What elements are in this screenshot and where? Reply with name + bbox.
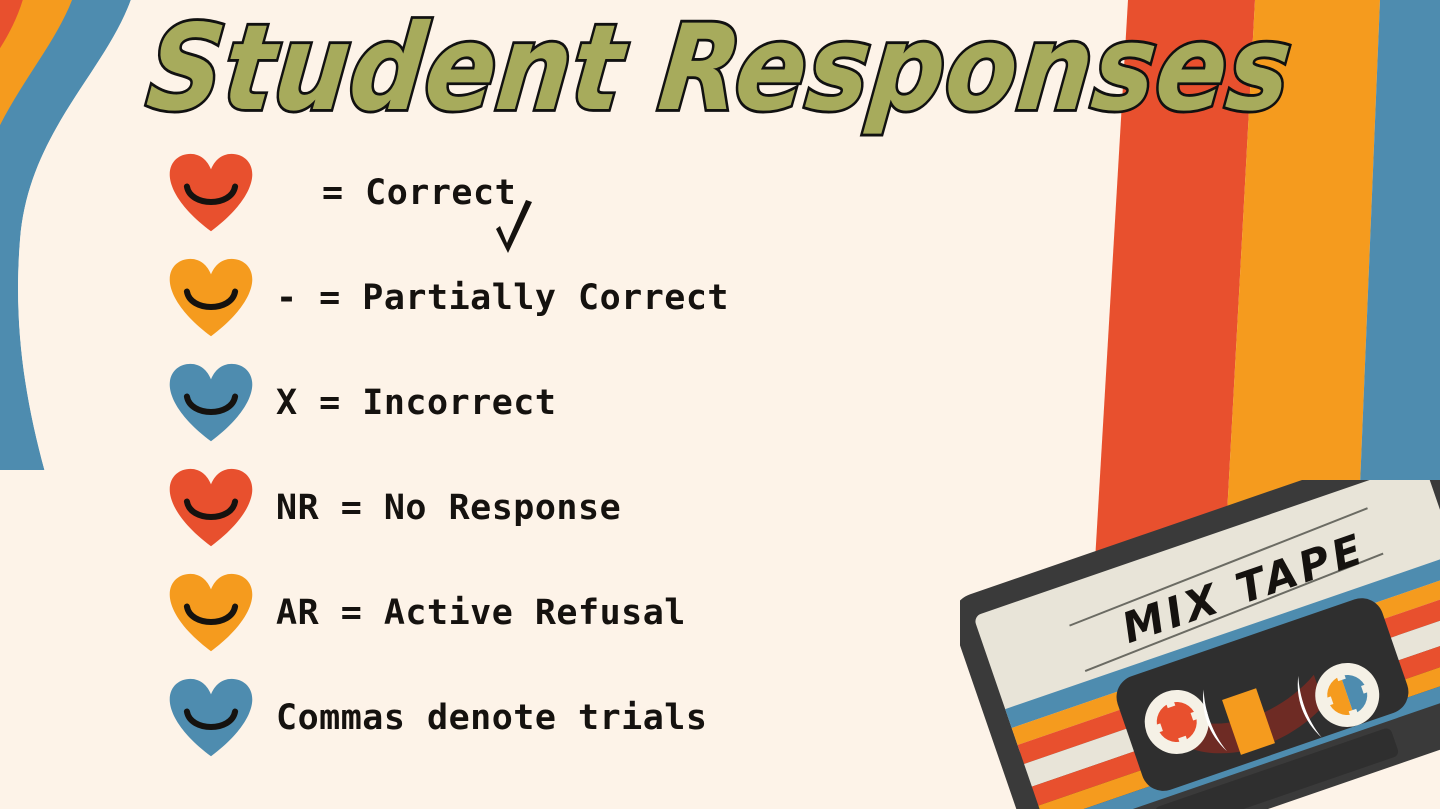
list-item-label: X = Incorrect bbox=[276, 383, 556, 423]
slide-canvas: Student Responses = Correct bbox=[0, 0, 1440, 809]
legend-list: = Correct - = Partially Correct X = Inco… bbox=[168, 140, 988, 770]
list-item: Commas denote trials bbox=[168, 665, 988, 770]
list-item-label-row: = Correct bbox=[276, 163, 516, 223]
list-item: X = Incorrect bbox=[168, 350, 988, 455]
list-item-label: AR = Active Refusal bbox=[276, 593, 686, 633]
cassette-label-text: MIX TAPE bbox=[1116, 524, 1372, 653]
list-item-label: = Correct bbox=[322, 173, 516, 213]
slanted-stripes-decoration bbox=[1080, 0, 1440, 680]
list-item-label: NR = No Response bbox=[276, 488, 621, 528]
list-item-label: Commas denote trials bbox=[276, 698, 707, 738]
heart-smile-icon bbox=[168, 362, 254, 444]
heart-smile-icon bbox=[168, 677, 254, 759]
heart-smile-icon bbox=[168, 467, 254, 549]
list-item: AR = Active Refusal bbox=[168, 560, 988, 665]
page-title-text: Student Responses bbox=[143, 9, 1298, 128]
cassette-tape-illustration: MIX TAPE bbox=[960, 480, 1440, 809]
page-title: Student Responses bbox=[0, 16, 1440, 120]
heart-smile-icon bbox=[168, 572, 254, 654]
list-item: NR = No Response bbox=[168, 455, 988, 560]
heart-smile-icon bbox=[168, 257, 254, 339]
check-mark-icon bbox=[276, 159, 320, 219]
list-item: = Correct bbox=[168, 140, 988, 245]
heart-smile-icon bbox=[168, 152, 254, 234]
